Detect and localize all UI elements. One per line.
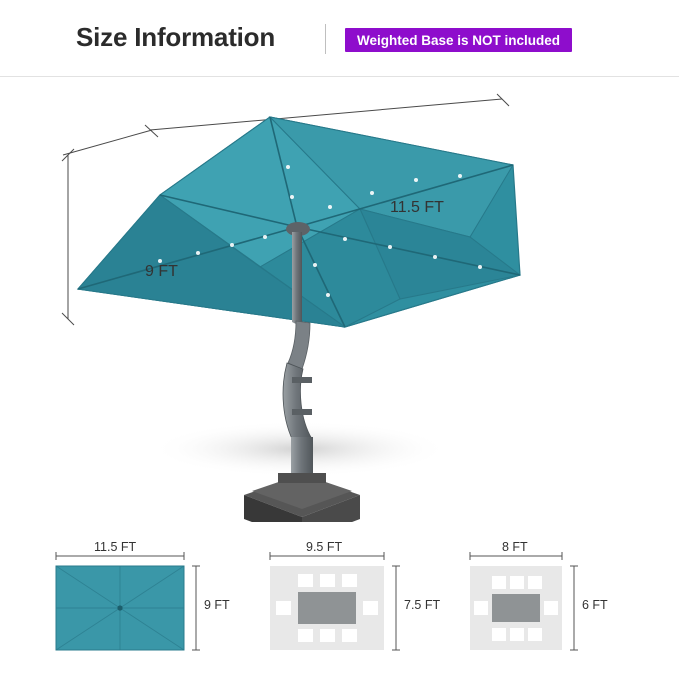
diagram-table-small: 8 FT 6 FT xyxy=(462,540,642,660)
status-badge: Weighted Base is NOT included xyxy=(345,28,572,52)
diagram-canopy-footprint: 11.5 FT 9 FT xyxy=(48,540,238,660)
pole-joint-lower xyxy=(292,409,312,415)
table-small-height-label: 6 FT xyxy=(582,598,608,612)
page-title: Size Information xyxy=(76,22,275,53)
main-width-label: 11.5 FT xyxy=(390,199,444,217)
header-divider xyxy=(325,24,326,54)
umbrella-svg xyxy=(0,77,679,522)
bottom-diagrams: 11.5 FT 9 FT xyxy=(0,522,679,679)
page-header: Size Information Weighted Base is NOT in… xyxy=(0,0,679,77)
center-stem xyxy=(292,232,302,327)
table xyxy=(298,592,356,624)
table-large-height-label: 7.5 FT xyxy=(404,598,440,612)
table-small-width-label: 8 FT xyxy=(502,540,528,554)
diagram-table-large: 9.5 FT 7.5 FT xyxy=(262,540,442,660)
weighted-base xyxy=(244,473,360,522)
pole-joint-upper xyxy=(292,377,312,383)
table xyxy=(492,594,540,622)
cantilever-arm xyxy=(288,321,310,369)
canopy-footprint-height-label: 9 FT xyxy=(204,598,230,612)
main-umbrella-illustration: 11.5 FT 9 FT xyxy=(0,77,679,522)
main-height-label: 9 FT xyxy=(145,263,178,281)
size-information-page: Size Information Weighted Base is NOT in… xyxy=(0,0,679,679)
canopy-footprint-width-label: 11.5 FT xyxy=(94,540,136,554)
table-large-width-label: 9.5 FT xyxy=(306,540,342,554)
